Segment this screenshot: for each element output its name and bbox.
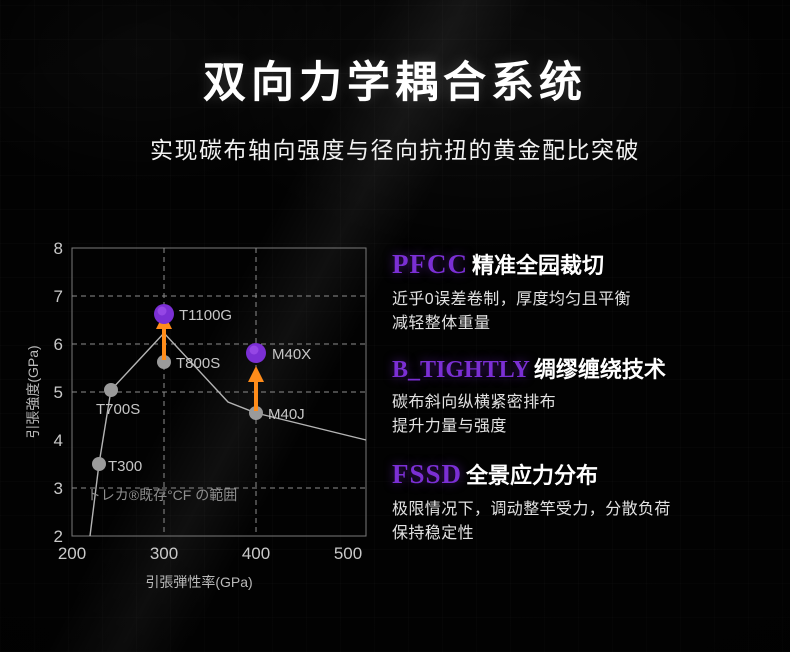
y-tick-5: 5 bbox=[54, 383, 63, 402]
features-list: PFCC精准全园裁切 近乎0误差卷制，厚度均匀且平衡 减轻整体重量 B_TIGH… bbox=[392, 250, 784, 567]
feature-btightly-desc-line2: 提升力量与强度 bbox=[392, 415, 784, 439]
tensile-chart-panel: T300 T700S T800S M40J T1100G M40X トレカ®既存… bbox=[16, 232, 382, 602]
x-tick-200: 200 bbox=[58, 544, 86, 563]
feature-fssd-code: FSSD bbox=[392, 459, 462, 489]
x-tick-300: 300 bbox=[150, 544, 178, 563]
feature-pfcc-title: 精准全园裁切 bbox=[472, 253, 604, 278]
feature-btightly-head: B_TIGHTLY绸缪缠绕技术 bbox=[392, 357, 784, 383]
highlight-m40x bbox=[250, 346, 259, 355]
point-label-t800s: T800S bbox=[176, 355, 220, 372]
feature-fssd: FSSD全景应力分布 极限情况下，调动整竿受力，分散负荷 保持稳定性 bbox=[392, 460, 784, 546]
data-point-t700s[interactable] bbox=[104, 383, 118, 397]
feature-btightly: B_TIGHTLY绸缪缠绕技术 碳布斜向纵横紧密排布 提升力量与强度 bbox=[392, 357, 784, 439]
y-axis-title: 引張強度(GPa) bbox=[25, 345, 41, 438]
header: 双向力学耦合系统 实现碳布轴向强度与径向抗扭的黄金配比突破 bbox=[0, 58, 790, 165]
page-subtitle: 实现碳布轴向强度与径向抗扭的黄金配比突破 bbox=[0, 131, 790, 165]
y-tick-6: 6 bbox=[54, 335, 63, 354]
point-label-t700s: T700S bbox=[96, 401, 140, 418]
chart-annotation: トレカ®既存°CF の範囲 bbox=[87, 487, 237, 503]
arrow-head-m40x bbox=[248, 366, 264, 382]
promo-page: 双向力学耦合系统 实现碳布轴向强度与径向抗扭的黄金配比突破 bbox=[0, 0, 790, 652]
feature-pfcc: PFCC精准全园裁切 近乎0误差卷制，厚度均匀且平衡 减轻整体重量 bbox=[392, 250, 784, 336]
highlight-t1100g bbox=[158, 307, 167, 316]
feature-fssd-desc-line1: 极限情况下，调动整竿受力，分散负荷 bbox=[392, 498, 784, 522]
y-tick-3: 3 bbox=[54, 479, 63, 498]
x-tick-500: 500 bbox=[334, 544, 362, 563]
x-tick-400: 400 bbox=[242, 544, 270, 563]
page-title: 双向力学耦合系统 bbox=[0, 58, 790, 109]
feature-pfcc-head: PFCC精准全园裁切 bbox=[392, 250, 784, 280]
y-tick-8: 8 bbox=[54, 239, 63, 258]
feature-pfcc-desc-line2: 减轻整体重量 bbox=[392, 312, 784, 336]
point-label-m40j: M40J bbox=[268, 406, 305, 423]
tensile-strength-scatter-chart: T300 T700S T800S M40J T1100G M40X トレカ®既存… bbox=[16, 232, 382, 602]
feature-btightly-desc-line1: 碳布斜向纵横紧密排布 bbox=[392, 391, 784, 415]
feature-fssd-head: FSSD全景应力分布 bbox=[392, 460, 784, 490]
feature-btightly-title: 绸缪缠绕技术 bbox=[534, 357, 666, 382]
y-tick-4: 4 bbox=[54, 431, 63, 450]
feature-fssd-title: 全景应力分布 bbox=[466, 463, 598, 488]
y-tick-7: 7 bbox=[54, 287, 63, 306]
feature-pfcc-code: PFCC bbox=[392, 249, 468, 279]
point-label-t300: T300 bbox=[108, 458, 142, 475]
data-point-t300[interactable] bbox=[92, 457, 106, 471]
point-label-m40x: M40X bbox=[272, 346, 311, 363]
feature-pfcc-desc-line1: 近乎0误差卷制，厚度均匀且平衡 bbox=[392, 288, 784, 312]
envelope-polyline bbox=[90, 333, 366, 536]
feature-fssd-desc-line2: 保持稳定性 bbox=[392, 522, 784, 546]
x-axis-title: 引張弾性率(GPa) bbox=[145, 574, 252, 590]
point-label-t1100g: T1100G bbox=[179, 307, 232, 324]
feature-btightly-code: B_TIGHTLY bbox=[392, 357, 530, 383]
